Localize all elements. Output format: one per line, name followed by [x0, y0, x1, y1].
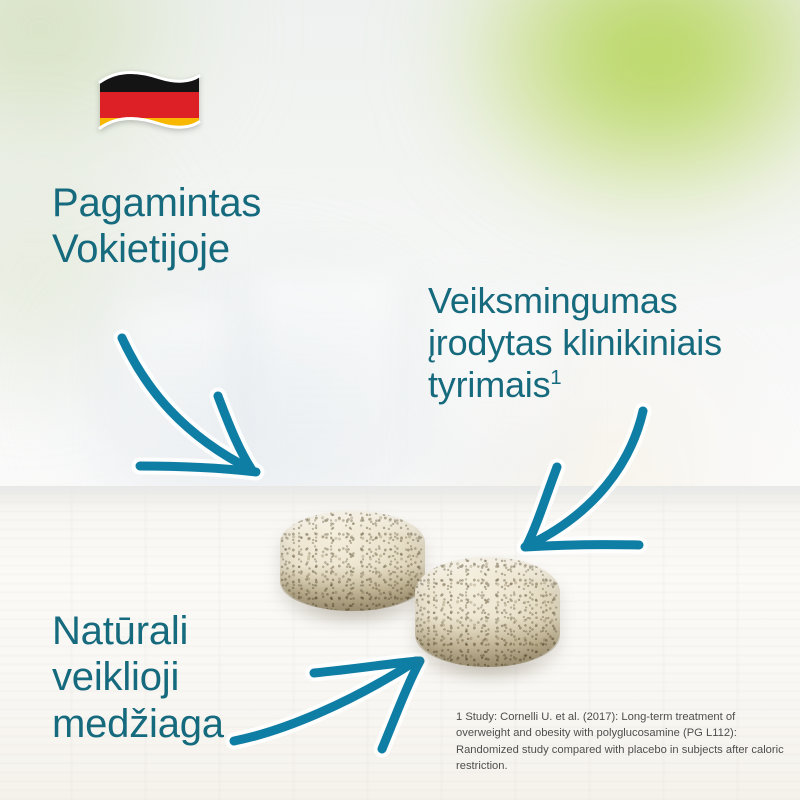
headline-clinically-proven: Veiksmingumas įrodytas klinikiniais tyri… [428, 280, 788, 405]
headline-clinically-proven-text: Veiksmingumas įrodytas klinikiniais tyri… [428, 280, 722, 405]
infographic-canvas: Pagamintas Vokietijoje Veiksmingumas įro… [0, 0, 800, 800]
tablet-speckle-texture [415, 557, 560, 667]
headline-clinically-proven-superscript: 1 [550, 367, 561, 389]
background-blurred-jar [250, 270, 400, 485]
study-footnote: 1 Study: Cornelli U. et al. (2017): Long… [456, 709, 786, 774]
tablet-speckle-texture [280, 511, 425, 611]
tablet-left [280, 511, 425, 611]
tablet-right [415, 557, 560, 667]
background-blurred-jar [120, 300, 240, 480]
german-flag-icon [96, 66, 202, 144]
headline-made-in-germany: Pagamintas Vokietijoje [52, 180, 382, 273]
table-edge-highlight [0, 486, 800, 512]
headline-natural-active-substance: Natūrali veiklioji medžiaga [52, 608, 312, 747]
